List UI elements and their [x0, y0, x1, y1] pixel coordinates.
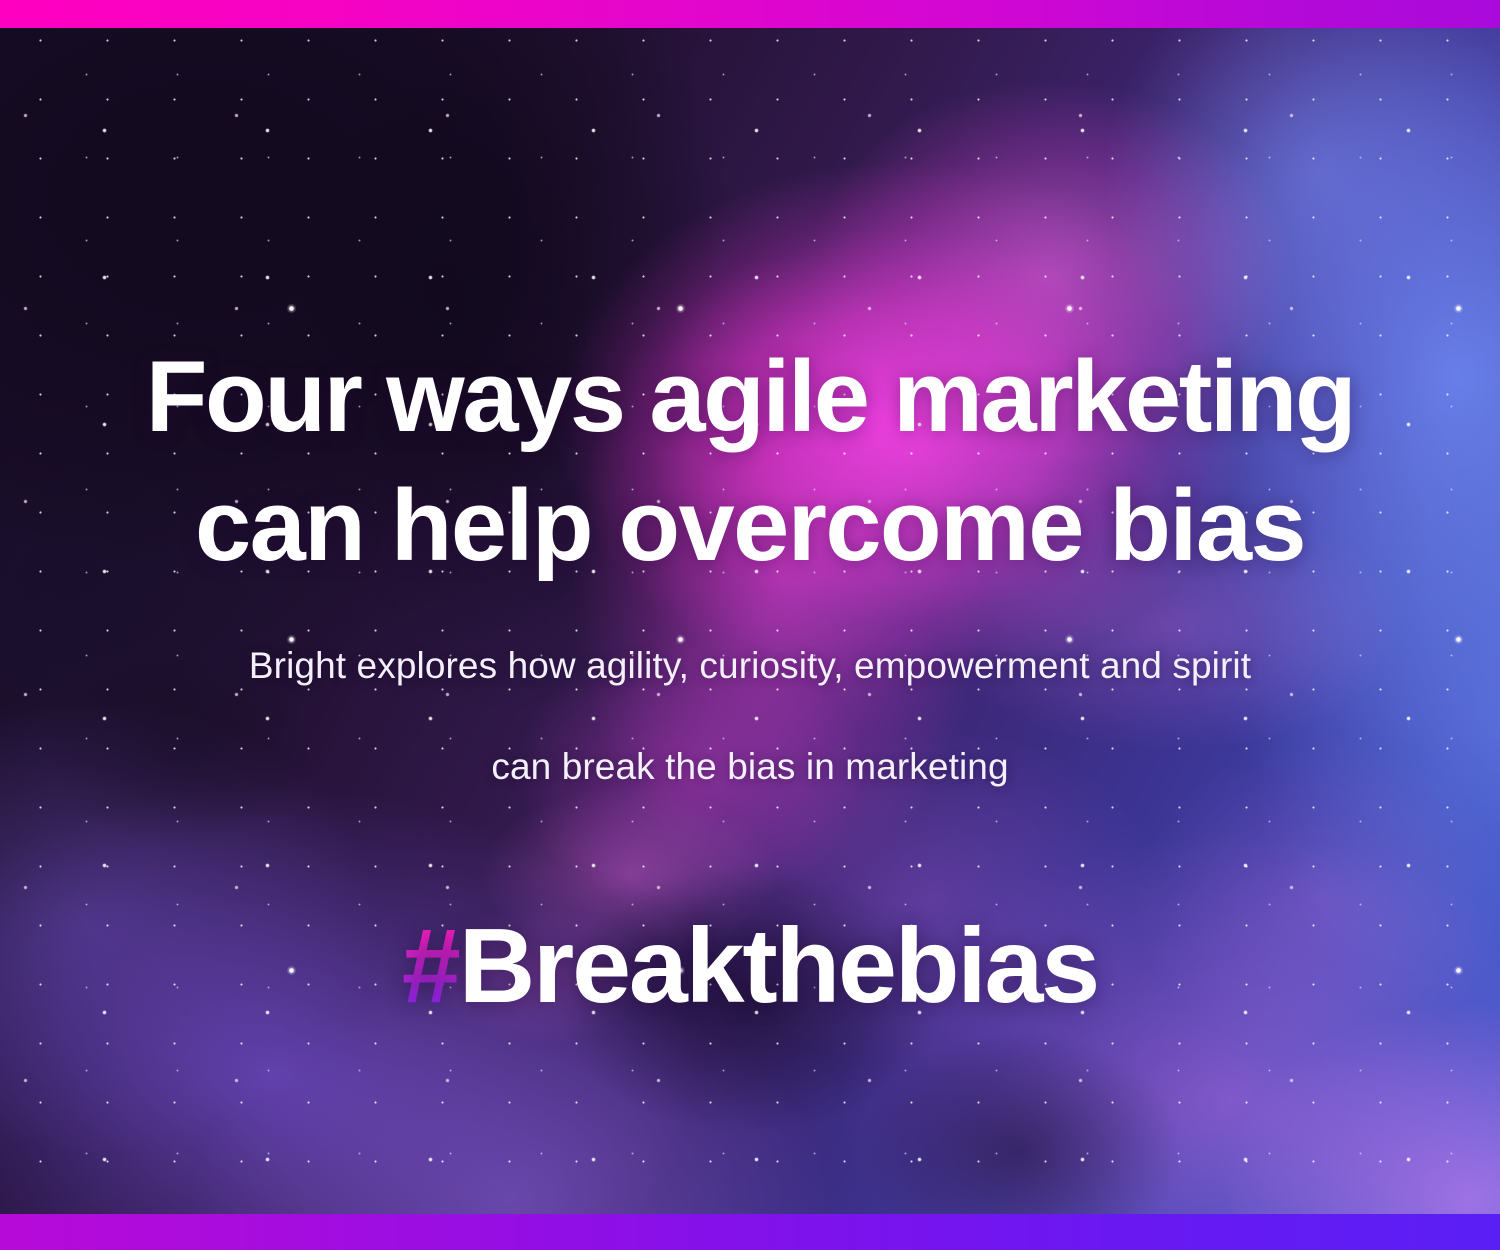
hashtag-symbol: # [402, 907, 459, 1025]
headline: Four ways agile marketing can help overc… [0, 333, 1500, 592]
campaign-banner: Four ways agile marketing can help overc… [0, 0, 1500, 1250]
subtitle-line-2: can break the bias in marketing [0, 745, 1500, 789]
subtitle-line-1: Bright explores how agility, curiosity, … [0, 644, 1500, 688]
frame-border-top [0, 0, 1500, 28]
hashtag-word: Breakthebias [459, 907, 1098, 1025]
headline-line-1: Four ways agile marketing [0, 333, 1500, 462]
frame-border-bottom [0, 1214, 1500, 1250]
banner-content: Four ways agile marketing can help overc… [0, 0, 1500, 1250]
hashtag: #Breakthebias [0, 913, 1500, 1019]
headline-line-2: can help overcome bias [0, 462, 1500, 591]
